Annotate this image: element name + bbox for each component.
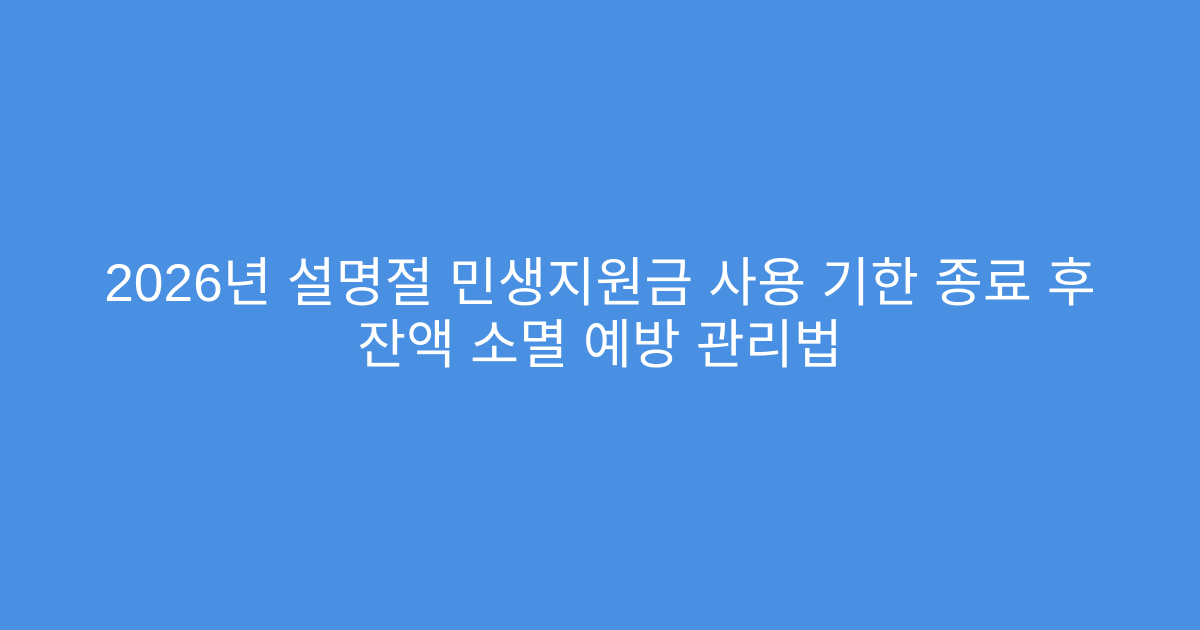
page-title: 2026년 설명절 민생지원금 사용 기한 종료 후 잔액 소멸 예방 관리법 [60, 253, 1140, 377]
title-block: 2026년 설명절 민생지원금 사용 기한 종료 후 잔액 소멸 예방 관리법 [0, 253, 1200, 377]
title-card: 2026년 설명절 민생지원금 사용 기한 종료 후 잔액 소멸 예방 관리법 [0, 0, 1200, 630]
